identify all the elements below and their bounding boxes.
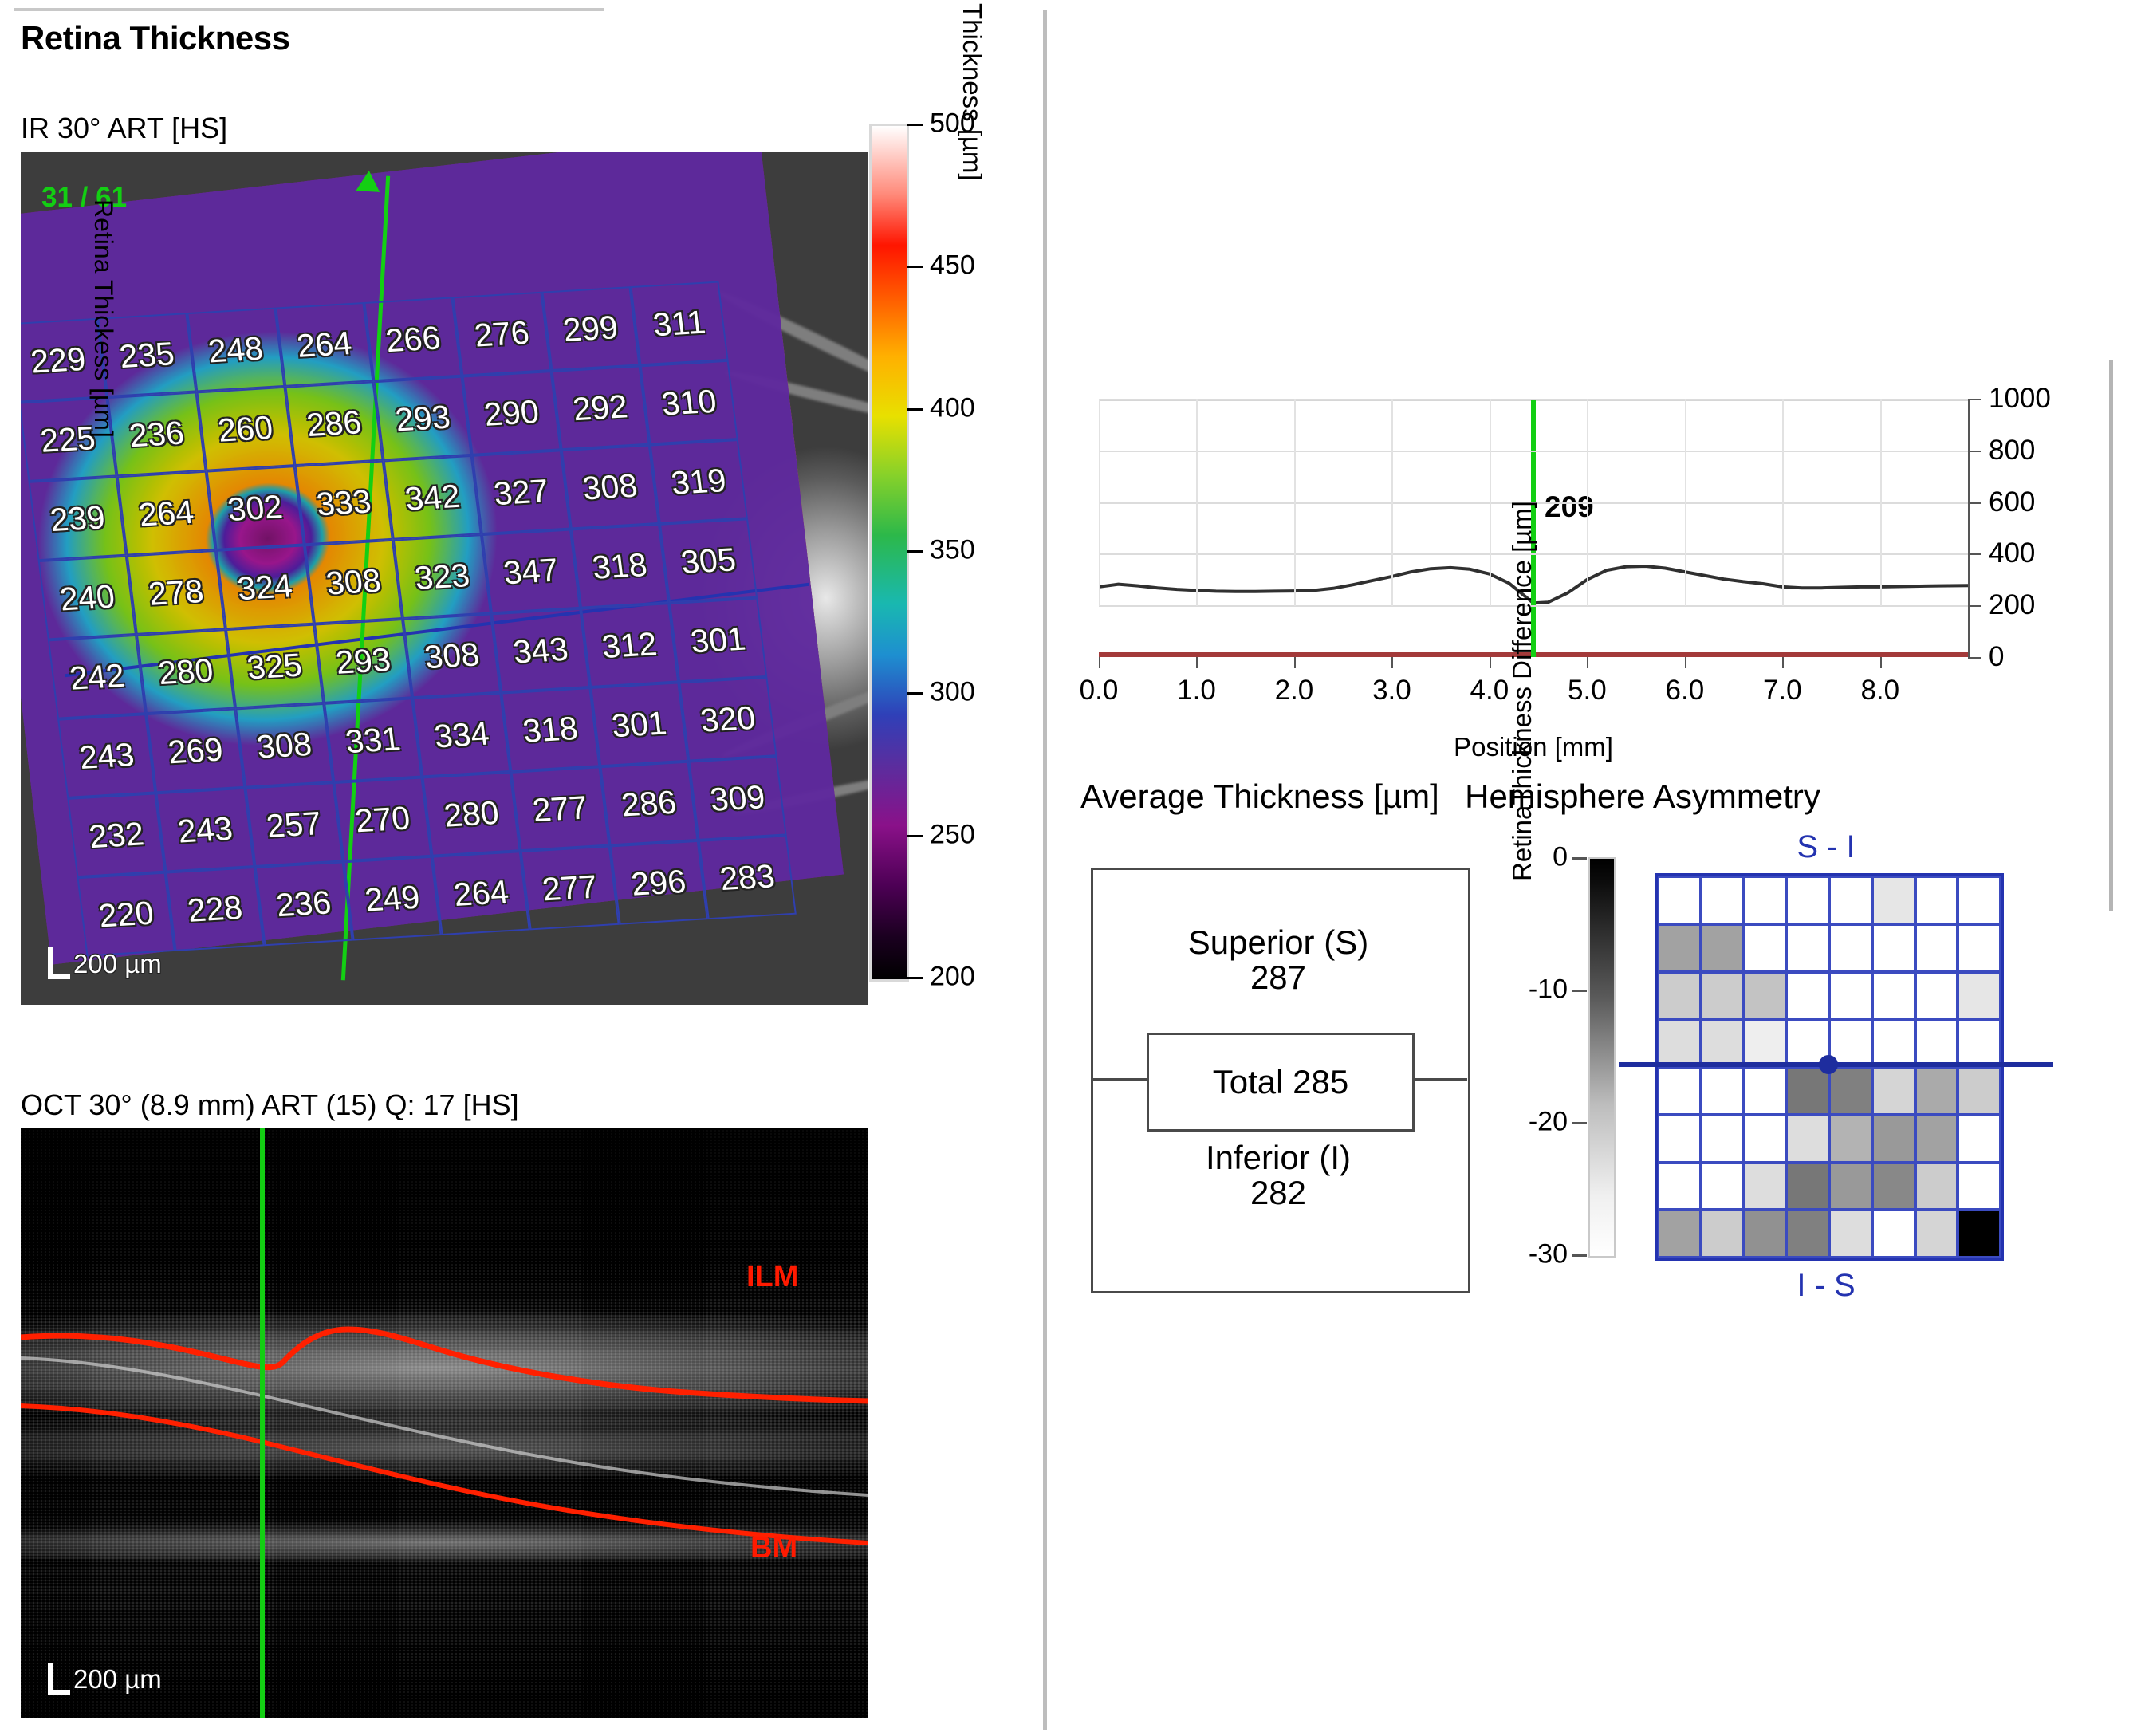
grid-cell: 264: [275, 302, 373, 387]
oct-scale-bar: 200 µm: [48, 1663, 162, 1695]
hemisphere-cell: [1915, 924, 1958, 972]
hemisphere-cell: [1829, 972, 1872, 1020]
grid-cell: 308: [403, 613, 501, 698]
hemisphere-cell: [1958, 1163, 2001, 1210]
colorbar-tick: [907, 692, 923, 695]
profile-gridline-v: [1880, 399, 1882, 606]
grid-cell: 296: [609, 840, 707, 925]
profile-x-tick-label: 5.0: [1568, 675, 1607, 707]
total-thickness-value: Total 285: [1147, 1033, 1415, 1132]
grid-cell: 283: [698, 835, 796, 919]
grid-cell: 311: [630, 281, 728, 366]
hemisphere-cell: [1786, 1163, 1829, 1210]
grid-cell: 325: [225, 624, 323, 709]
bm-line: [21, 1406, 868, 1543]
hemisphere-cell: [1958, 1115, 2001, 1163]
grid-cell: 264: [432, 851, 530, 935]
grid-cell: 264: [117, 471, 215, 556]
hemisphere-cell: [1786, 1067, 1829, 1115]
hemisphere-cell: [1872, 1019, 1915, 1067]
average-thickness-title: Average Thickness [µm]: [1080, 777, 1439, 816]
profile-gridline-v: [1391, 399, 1393, 606]
grid-cell: 242: [48, 635, 146, 719]
grid-cell: 293: [314, 619, 412, 703]
grid-cell: 220: [77, 872, 175, 957]
grid-cell: 334: [412, 693, 510, 777]
profile-x-tick: [1294, 657, 1296, 668]
etdrs-thickness-grid: 2292352482642662762993112252362602862932…: [21, 281, 797, 957]
colorbar-title: Retina Thickess [µm]: [89, 199, 118, 438]
thickness-colorbar-legend: 500450400350300250200: [869, 124, 1037, 1005]
grid-cell: 310: [640, 360, 738, 445]
fundus-scale-text: 200 µm: [73, 949, 162, 979]
hemisphere-cell: [1701, 924, 1744, 972]
grid-cell: 248: [187, 308, 285, 392]
inferior-label: Inferior (I): [1206, 1140, 1351, 1175]
panel-divider-left: [1043, 10, 1047, 1730]
hemisphere-colorbar-tick-label: -20: [1515, 1107, 1568, 1138]
grid-cell: 280: [136, 629, 234, 714]
profile-x-tick: [1196, 657, 1198, 668]
superior-sector: Superior (S) 287: [1188, 925, 1368, 995]
hemisphere-cell: [1872, 1210, 1915, 1258]
grid-cell: 236: [254, 861, 352, 946]
grid-cell: 249: [343, 856, 441, 941]
colorbar-tick: [907, 550, 923, 553]
hemisphere-cell: [1701, 972, 1744, 1020]
profile-gridline-v: [1099, 399, 1100, 606]
grid-cell: 309: [688, 756, 786, 840]
profile-y-tick: [1968, 451, 1981, 452]
hemisphere-cell: [1872, 1163, 1915, 1210]
profile-y-tick: [1968, 399, 1981, 400]
grid-cell: 266: [364, 297, 462, 381]
profile-gridline-v: [1685, 399, 1686, 606]
scale-bar-icon: [48, 947, 70, 979]
scale-bar-icon: [48, 1663, 70, 1695]
grid-cell: 277: [511, 766, 609, 851]
hemisphere-colorbar-title: RetinaThickness Difference [µm]: [1507, 501, 1537, 881]
superior-value: 287: [1188, 960, 1368, 995]
oct-bscan-image[interactable]: ILM BM 200 µm: [21, 1128, 868, 1718]
inferior-sector: Inferior (I) 282: [1206, 1140, 1351, 1210]
hemisphere-cell: [1744, 1210, 1787, 1258]
hemisphere-cell: [1658, 1019, 1701, 1067]
hemisphere-cell: [1872, 1115, 1915, 1163]
hemisphere-cell: [1915, 876, 1958, 924]
grid-cell: 318: [570, 524, 668, 608]
hemisphere-cell: [1958, 1019, 2001, 1067]
profile-y-tick: [1968, 502, 1981, 504]
profile-y-axis: [1968, 399, 1970, 657]
colorbar-tick-label: 450: [930, 250, 975, 281]
thickness-colorbar: [869, 124, 909, 982]
grid-cell: 301: [669, 598, 767, 683]
profile-x-tick: [1782, 657, 1784, 668]
hemisphere-cell: [1701, 1067, 1744, 1115]
hemisphere-cell: [1872, 1067, 1915, 1115]
header-rule: [14, 8, 604, 11]
hemisphere-cell: [1958, 924, 2001, 972]
profile-y-tick-label: 400: [1989, 537, 2035, 569]
colorbar-tick-label: 200: [930, 962, 975, 993]
grid-cell: 343: [491, 608, 589, 693]
hemisphere-cell: [1915, 1163, 1958, 1210]
grid-cell: 293: [373, 376, 471, 461]
hemisphere-cell: [1658, 1115, 1701, 1163]
hemisphere-top-label: S - I: [1797, 829, 1855, 865]
profile-x-tick-label: 1.0: [1177, 675, 1216, 707]
grid-cell: 331: [324, 698, 422, 782]
profile-x-tick: [1880, 657, 1882, 668]
grid-cell: 292: [551, 365, 649, 450]
hemisphere-cell: [1658, 924, 1701, 972]
grid-cell: 286: [600, 762, 698, 846]
profile-x-tick-label: 0.0: [1080, 675, 1119, 707]
bm-label: BM: [750, 1531, 797, 1565]
hemisphere-cell: [1744, 1019, 1787, 1067]
profile-x-tick-label: 8.0: [1860, 675, 1899, 707]
profile-y-tick-label: 600: [1989, 486, 2035, 518]
grid-cell: 308: [561, 445, 659, 529]
hemisphere-cell: [1958, 972, 2001, 1020]
colorbar-tick: [907, 266, 923, 268]
grid-cell: 308: [305, 540, 403, 624]
ilm-line: [21, 1329, 868, 1401]
hemisphere-cell: [1872, 924, 1915, 972]
profile-y-tick-label: 800: [1989, 435, 2035, 466]
grid-cell: 276: [453, 292, 551, 376]
grid-cell: 243: [156, 788, 254, 872]
hemisphere-bottom-label: I - S: [1797, 1268, 1855, 1304]
oct-scale-text: 200 µm: [73, 1664, 162, 1695]
grid-cell: 333: [294, 460, 392, 545]
hemisphere-cell: [1658, 1210, 1701, 1258]
colorbar-tick: [907, 124, 923, 126]
hemisphere-cell: [1958, 1067, 2001, 1115]
hemisphere-colorbar-tick-label: 0: [1515, 842, 1568, 873]
hemisphere-colorbar-tick-label: -30: [1515, 1239, 1568, 1270]
colorbar-tick-label: 350: [930, 535, 975, 566]
hemisphere-cell: [1744, 1115, 1787, 1163]
hemisphere-cell: [1658, 972, 1701, 1020]
hemisphere-cell: [1658, 1067, 1701, 1115]
hemisphere-cell: [1744, 972, 1787, 1020]
grid-cell: 318: [501, 687, 599, 772]
superior-label: Superior (S): [1188, 925, 1368, 960]
hemisphere-colorbar-tick: [1572, 1254, 1587, 1257]
inner-layer-line: [21, 1358, 868, 1495]
colorbar-tick-label: 400: [930, 392, 975, 423]
fundus-caption: IR 30° ART [HS]: [21, 112, 227, 145]
hemisphere-cell: [1829, 924, 1872, 972]
grid-cell: 323: [393, 534, 491, 619]
profile-x-tick-label: 6.0: [1666, 675, 1705, 707]
hemisphere-cell: [1829, 876, 1872, 924]
grid-cell: 299: [541, 286, 640, 371]
thickness-profile-chart[interactable]: 209 Position [mm] 0.01.02.03.04.05.06.07…: [1099, 399, 1984, 638]
profile-gridline-v: [1294, 399, 1296, 606]
grid-cell: 228: [166, 867, 264, 951]
colorbar-tick-label: 250: [930, 819, 975, 850]
profile-gridline-v: [1490, 399, 1491, 606]
colorbar-tick-label: 300: [930, 677, 975, 708]
hemisphere-colorbar: [1588, 857, 1616, 1258]
grid-cell: 327: [472, 450, 570, 534]
panel-divider-right: [2109, 360, 2113, 911]
hemisphere-cell: [1829, 1163, 1872, 1210]
profile-gridline-v: [1587, 399, 1588, 606]
profile-x-tick-label: 4.0: [1470, 675, 1509, 707]
retina-thickness-map[interactable]: 2292352482642662762993112252362602862932…: [21, 152, 868, 1005]
hemisphere-cell: [1658, 876, 1701, 924]
bscan-position-line[interactable]: [260, 1128, 265, 1718]
grid-cell: 305: [659, 518, 758, 603]
oct-segmentation-lines: [21, 1128, 868, 1718]
hemisphere-cell: [1701, 1019, 1744, 1067]
grid-cell: 243: [57, 714, 155, 798]
hemisphere-cell: [1829, 1210, 1872, 1258]
average-connector-left: [1091, 1078, 1148, 1081]
profile-y-tick-label: 1000: [1989, 383, 2051, 415]
profile-gridline-v: [1782, 399, 1784, 606]
profile-y-tick: [1968, 605, 1981, 607]
profile-gridline-h: [1099, 399, 1968, 400]
hemisphere-cell: [1872, 972, 1915, 1020]
grid-cell: 270: [333, 777, 431, 862]
grid-cell: 280: [422, 772, 520, 856]
grid-cell: 269: [146, 708, 244, 793]
grid-cell: 324: [215, 545, 313, 629]
hemisphere-cell: [1958, 876, 2001, 924]
grid-cell: 290: [462, 371, 561, 455]
page-title: Retina Thickness: [21, 19, 289, 57]
hemisphere-cell: [1786, 1210, 1829, 1258]
average-connector-right: [1408, 1078, 1467, 1081]
profile-y-tick: [1968, 553, 1981, 555]
hemisphere-cell: [1872, 876, 1915, 924]
profile-y-tick-label: 0: [1989, 641, 2004, 673]
grid-cell: 286: [285, 381, 383, 466]
profile-y-tick: [1968, 657, 1981, 659]
hemisphere-colorbar-tick: [1572, 857, 1587, 860]
grid-cell: 278: [127, 550, 225, 635]
hemisphere-cell: [1744, 1067, 1787, 1115]
hemisphere-cell: [1744, 876, 1787, 924]
inferior-value: 282: [1206, 1175, 1351, 1210]
profile-x-tick: [1099, 657, 1100, 668]
grid-cell: 308: [235, 703, 333, 788]
profile-gridline-h: [1099, 451, 1968, 452]
profile-y-axis-label: Thickness [µm]: [957, 3, 987, 181]
hemisphere-cell: [1915, 1210, 1958, 1258]
profile-x-tick-label: 3.0: [1372, 675, 1411, 707]
hemisphere-cell: [1915, 1019, 1958, 1067]
grid-cell: 312: [581, 603, 679, 687]
colorbar-tick: [907, 408, 923, 411]
profile-x-tick: [1587, 657, 1588, 668]
hemisphere-colorbar-tick: [1572, 990, 1587, 992]
ilm-label: ILM: [746, 1260, 798, 1294]
oct-caption: OCT 30° (8.9 mm) ART (15) Q: 17 [HS]: [21, 1088, 519, 1122]
hemisphere-colorbar-tick: [1572, 1122, 1587, 1124]
profile-x-tick-label: 2.0: [1275, 675, 1314, 707]
grid-cell: 320: [679, 677, 777, 762]
profile-x-tick: [1490, 657, 1491, 668]
scan-direction-arrow-icon: [356, 170, 380, 192]
hemisphere-cell: [1829, 1067, 1872, 1115]
profile-x-tick-label: 7.0: [1763, 675, 1802, 707]
hemisphere-cell: [1786, 876, 1829, 924]
hemisphere-cell: [1701, 876, 1744, 924]
grid-cell: 347: [482, 529, 580, 614]
profile-gridline-v: [1196, 399, 1198, 606]
colorbar-tick: [907, 977, 923, 979]
grid-cell: 277: [521, 846, 619, 931]
grid-cell: 232: [67, 793, 165, 877]
hemisphere-colorbar-tick-label: -10: [1515, 974, 1568, 1006]
hemisphere-center-dot: [1819, 1055, 1838, 1074]
grid-cell: 239: [29, 476, 127, 561]
profile-y-tick-label: 200: [1989, 589, 2035, 621]
hemisphere-cell: [1744, 924, 1787, 972]
hemisphere-cell: [1829, 1115, 1872, 1163]
colorbar-tick: [907, 835, 923, 837]
grid-cell: 319: [649, 439, 747, 524]
hemisphere-cell: [1658, 1163, 1701, 1210]
hemisphere-cell: [1915, 1115, 1958, 1163]
hemisphere-cell: [1915, 1067, 1958, 1115]
hemisphere-cell: [1744, 1163, 1787, 1210]
hemisphere-cell: [1786, 1115, 1829, 1163]
hemisphere-cell: [1786, 972, 1829, 1020]
hemisphere-cell: [1701, 1115, 1744, 1163]
hemisphere-cell: [1701, 1210, 1744, 1258]
grid-cell: 240: [38, 556, 136, 640]
hemisphere-cell: [1701, 1163, 1744, 1210]
hemisphere-cell: [1958, 1210, 2001, 1258]
grid-cell: 301: [590, 682, 688, 766]
hemisphere-cell: [1786, 924, 1829, 972]
fundus-scale-bar: 200 µm: [48, 947, 162, 979]
grid-cell: 260: [196, 387, 294, 471]
profile-x-tick: [1685, 657, 1686, 668]
profile-x-tick: [1391, 657, 1393, 668]
hemisphere-cell: [1915, 972, 1958, 1020]
grid-cell: 302: [206, 466, 304, 550]
grid-cell: 342: [384, 455, 482, 540]
grid-cell: 236: [108, 392, 206, 476]
grid-cell: 257: [245, 782, 343, 867]
